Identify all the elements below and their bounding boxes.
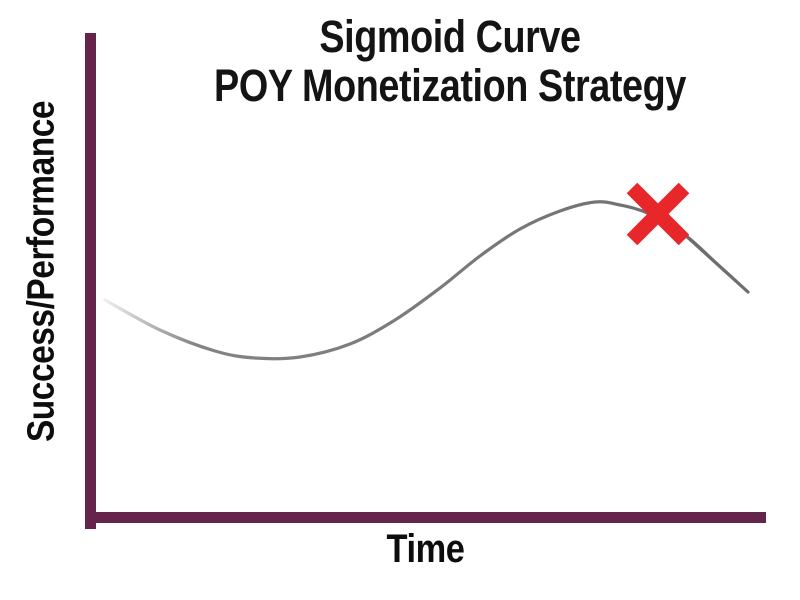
sigmoid-curve-figure: Sigmoid Curve POY Monetization Strategy … [0, 0, 800, 600]
red-x-mark-icon [632, 188, 684, 240]
sigmoid-curve-tail [685, 235, 748, 292]
plot-area [0, 0, 800, 600]
